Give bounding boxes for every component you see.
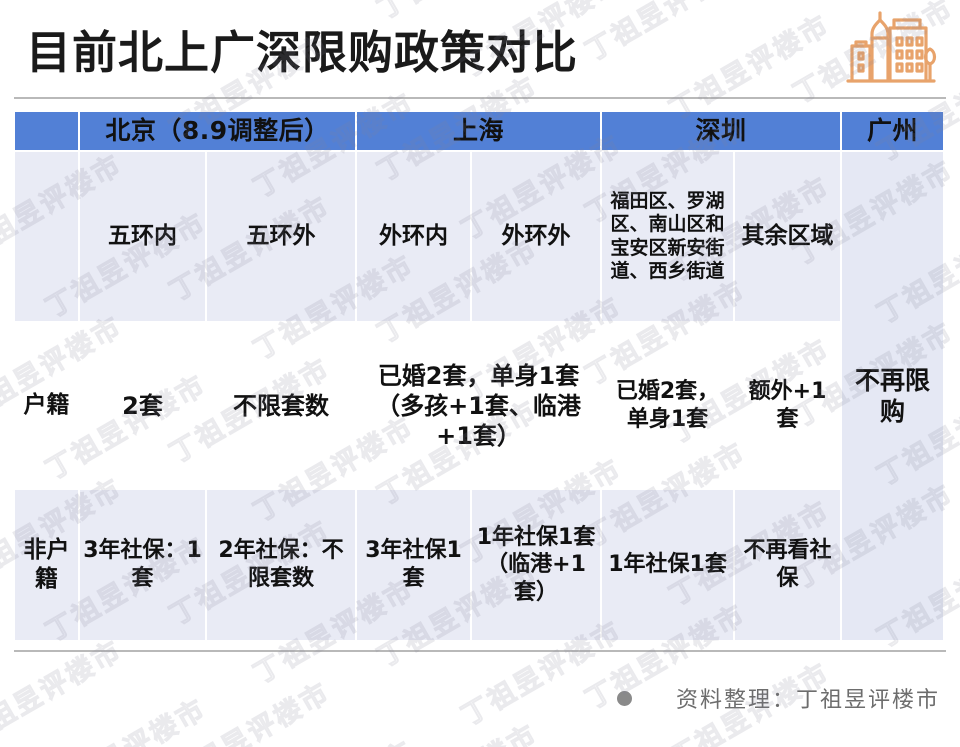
footer-divider xyxy=(14,650,946,652)
footer-credit: 资料整理：丁祖昱评楼市 xyxy=(617,682,940,714)
header-city-shanghai: 上海 xyxy=(357,112,602,152)
infographic-page: 丁祖昱评楼市 丁祖昱评楼市 丁祖昱评楼市 丁祖昱评楼市 丁祖昱评楼市 丁祖昱评楼… xyxy=(0,0,960,747)
table-row-hukou: 户籍 2套 不限套数 已婚2套，单身1套（多孩+1套、临港+1套） 已婚2套，单… xyxy=(15,323,945,490)
guangzhou-policy-cell: 不再限购 xyxy=(842,152,945,640)
title-divider xyxy=(14,97,946,99)
watermark-text: 丁祖昱评楼市 xyxy=(161,671,336,747)
row-label-non-hukou: 非户籍 xyxy=(15,490,80,640)
header-city-shenzhen: 深圳 xyxy=(602,112,842,152)
header-bar: 目前北上广深限购政策对比 xyxy=(0,0,960,98)
zone-beijing-inner: 五环内 xyxy=(80,152,207,323)
cell-hukou-beijing-outer: 不限套数 xyxy=(207,323,357,490)
zone-beijing-outer: 五环外 xyxy=(207,152,357,323)
header-city-guangzhou: 广州 xyxy=(842,112,945,152)
table-row-non-hukou: 非户籍 3年社保：1套 2年社保：不限套数 3年社保1套 1年社保1套（临港+1… xyxy=(15,490,945,640)
cell-nonhukou-shenzhen-other: 不再看社保 xyxy=(735,490,842,640)
cell-hukou-beijing-inner: 2套 xyxy=(80,323,207,490)
cell-hukou-shenzhen-core: 已婚2套，单身1套 xyxy=(602,323,735,490)
zone-shenzhen-core: 福田区、罗湖区、南山区和宝安区新安街道、西乡街道 xyxy=(602,152,735,323)
cell-hukou-shenzhen-other: 额外+1套 xyxy=(735,323,842,490)
cell-nonhukou-shenzhen-core: 1年社保1套 xyxy=(602,490,735,640)
watermark-text: 丁祖昱评楼市 xyxy=(0,629,129,747)
zone-shanghai-outer: 外环外 xyxy=(472,152,602,323)
zone-shanghai-inner: 外环内 xyxy=(357,152,472,323)
page-title: 目前北上广深限购政策对比 xyxy=(26,16,578,81)
watermark-text: 丁祖昱评楼市 xyxy=(245,729,420,747)
table-zone-row: 五环内 五环外 外环内 外环外 福田区、罗湖区、南山区和宝安区新安街道、西乡街道… xyxy=(15,152,945,323)
policy-comparison-table: 北京（8.9调整后） 上海 深圳 广州 五环内 五环外 外环内 外环外 福田区、… xyxy=(15,112,945,640)
table-header-row: 北京（8.9调整后） 上海 深圳 广州 xyxy=(15,112,945,152)
watermark-text: 丁祖昱评楼市 xyxy=(37,687,212,747)
city-buildings-icon xyxy=(842,8,938,90)
zone-shenzhen-other: 其余区域 xyxy=(735,152,842,323)
header-corner-cell xyxy=(15,112,80,152)
cell-hukou-shanghai: 已婚2套，单身1套（多孩+1套、临港+1套） xyxy=(357,323,602,490)
cell-nonhukou-beijing-inner: 3年社保：1套 xyxy=(80,490,207,640)
source-credit-text: 资料整理：丁祖昱评楼市 xyxy=(676,682,940,714)
cell-nonhukou-shanghai-outer: 1年社保1套（临港+1套） xyxy=(472,490,602,640)
header-city-beijing: 北京（8.9调整后） xyxy=(80,112,357,152)
cell-nonhukou-beijing-outer: 2年社保：不限套数 xyxy=(207,490,357,640)
zone-corner-cell xyxy=(15,152,80,323)
cell-nonhukou-shanghai-inner: 3年社保1套 xyxy=(357,490,472,640)
row-label-hukou: 户籍 xyxy=(15,323,80,490)
watermark-text: 丁祖昱评楼市 xyxy=(369,713,544,747)
dot-marker-icon xyxy=(617,691,632,706)
